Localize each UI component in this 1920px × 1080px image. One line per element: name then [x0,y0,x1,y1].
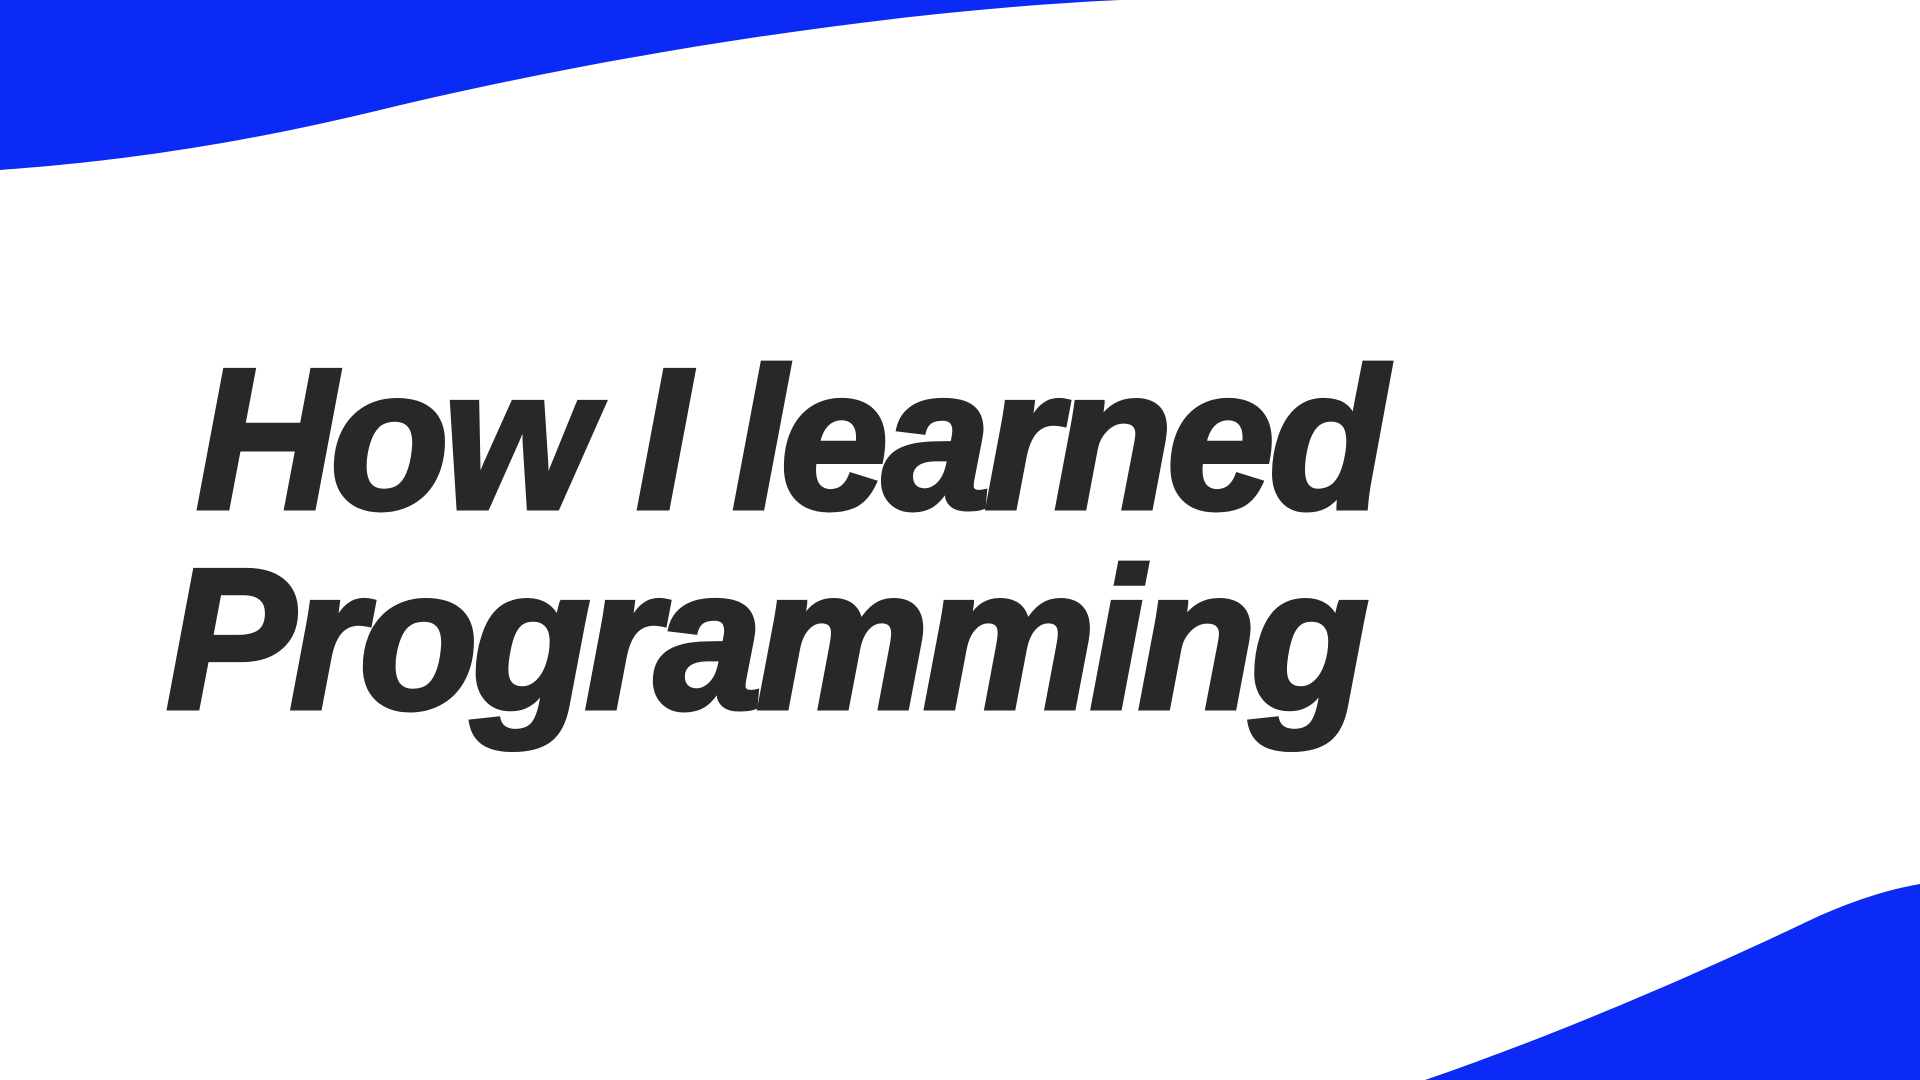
background-decorations [0,0,1920,1080]
slide-canvas: How I learned Programming [0,0,1920,1080]
background-fill [0,0,1920,1080]
